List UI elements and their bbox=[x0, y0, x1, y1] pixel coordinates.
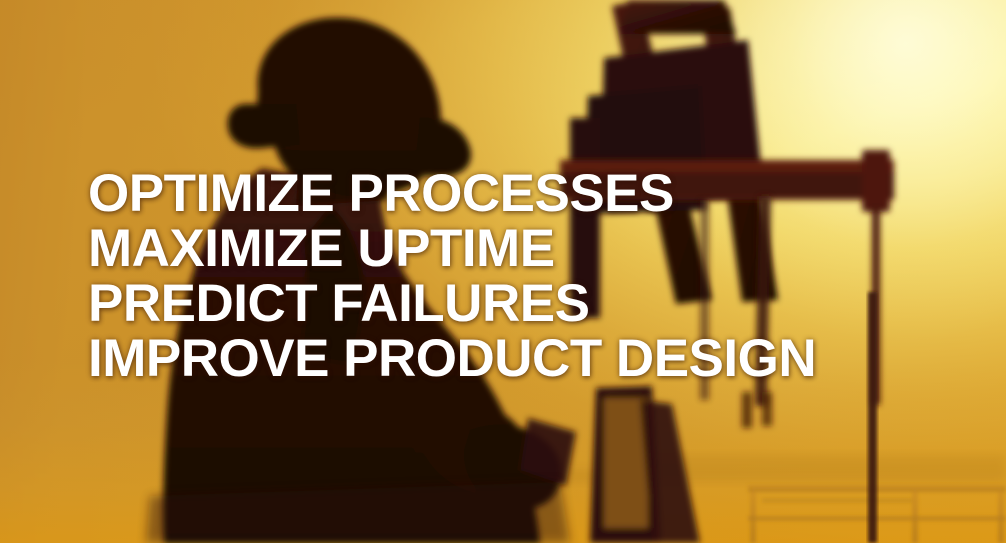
banner-image: OPTIMIZE PROCESSES MAXIMIZE UPTIME PREDI… bbox=[0, 0, 1006, 543]
headline-line-2: MAXIMIZE UPTIME bbox=[88, 221, 988, 276]
headline-line-4: IMPROVE PRODUCT DESIGN bbox=[88, 331, 988, 386]
headline-block: OPTIMIZE PROCESSES MAXIMIZE UPTIME PREDI… bbox=[88, 166, 988, 386]
headline-line-3: PREDICT FAILURES bbox=[88, 276, 988, 331]
headline-line-1: OPTIMIZE PROCESSES bbox=[88, 166, 988, 221]
